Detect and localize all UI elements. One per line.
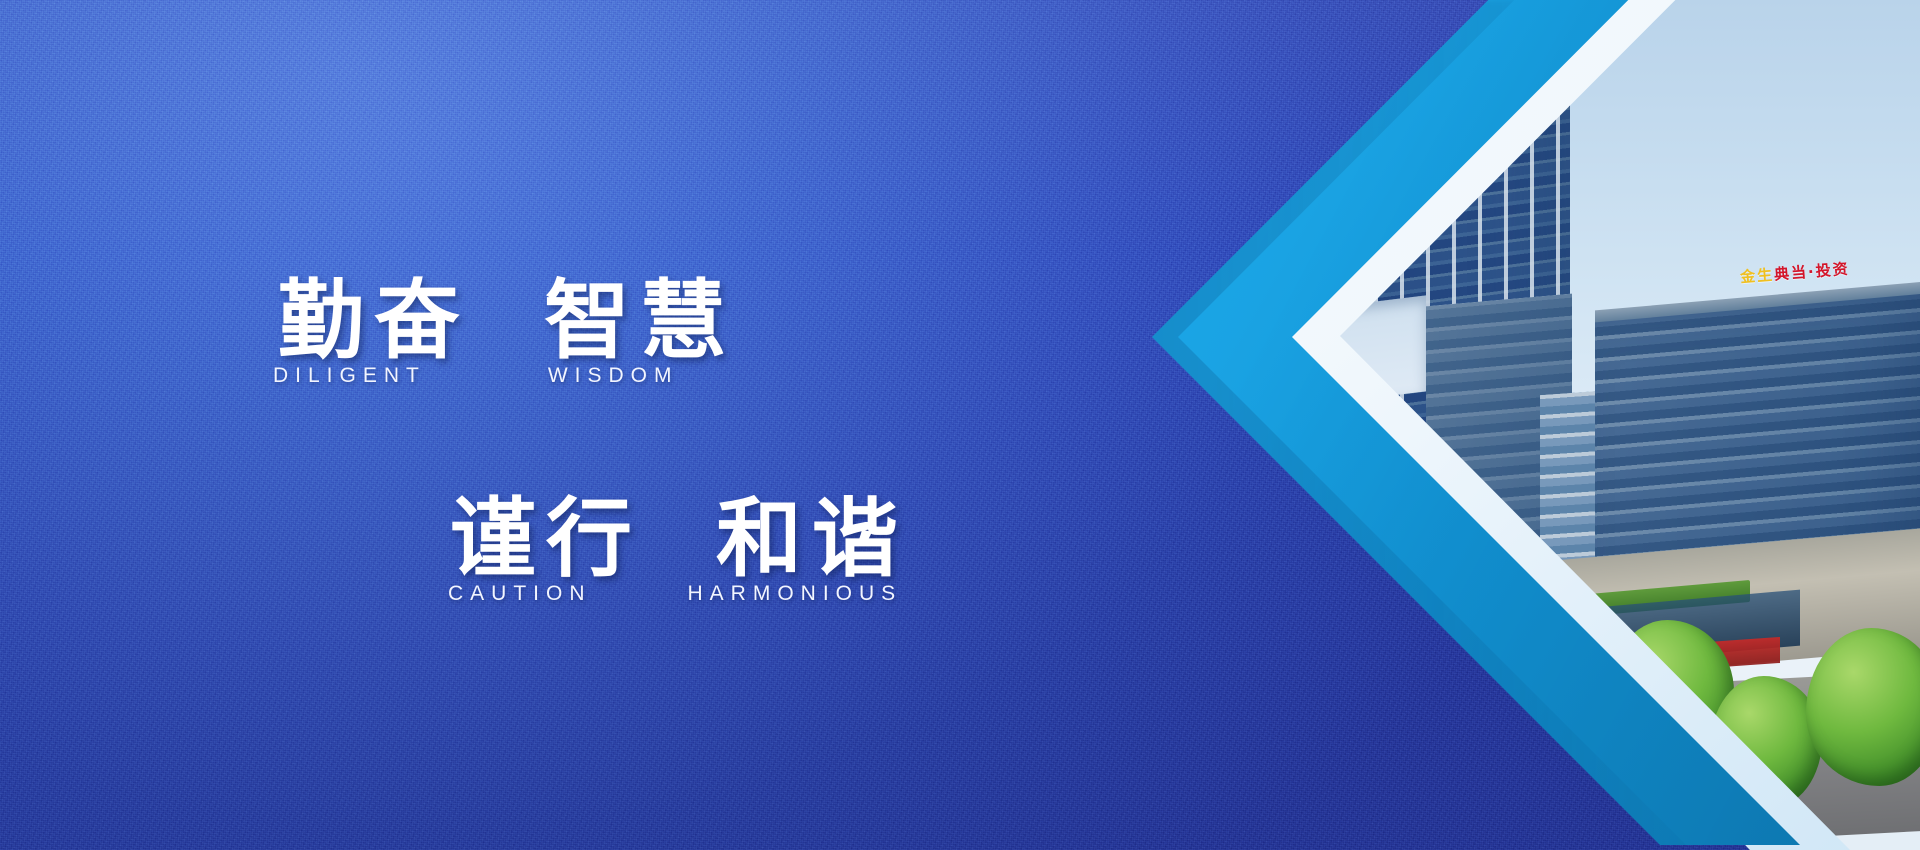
slogan-row2-english: CAUTIONHARMONIOUS bbox=[448, 582, 902, 606]
slogan-row2-chinese: 谨行 和谐 bbox=[450, 468, 908, 593]
secondary-sign-yellow-text: 金生 bbox=[1740, 266, 1775, 287]
slogan-row2-english-right: HARMONIOUS bbox=[688, 582, 903, 605]
slogan-row1-spacer bbox=[470, 271, 544, 371]
slogan-row1-english: DILIGENTWISDOM bbox=[273, 364, 679, 388]
slogan-row1-chinese-right: 智慧 bbox=[544, 271, 736, 371]
slogan-row2-english-left: CAUTION bbox=[448, 582, 592, 605]
hero-banner: 江苏国泰 金生典当·投资 国泰大厦 bbox=[0, 0, 1920, 850]
slogan-row1-chinese-left: 勤奋 bbox=[278, 271, 470, 371]
slogan-row1-english-right: WISDOM bbox=[548, 364, 679, 387]
slogan-row2-spacer bbox=[642, 489, 716, 589]
slogan-row1-chinese: 勤奋 智慧 bbox=[278, 250, 736, 375]
slogan-row1-english-left: DILIGENT bbox=[273, 364, 426, 387]
slogan-block: 勤奋 智慧 DILIGENTWISDOM 谨行 和谐 CAUTIONHARMON… bbox=[0, 0, 1000, 850]
slogan-row2-chinese-left: 谨行 bbox=[450, 489, 642, 589]
slogan-row2-chinese-right: 和谐 bbox=[716, 489, 908, 589]
